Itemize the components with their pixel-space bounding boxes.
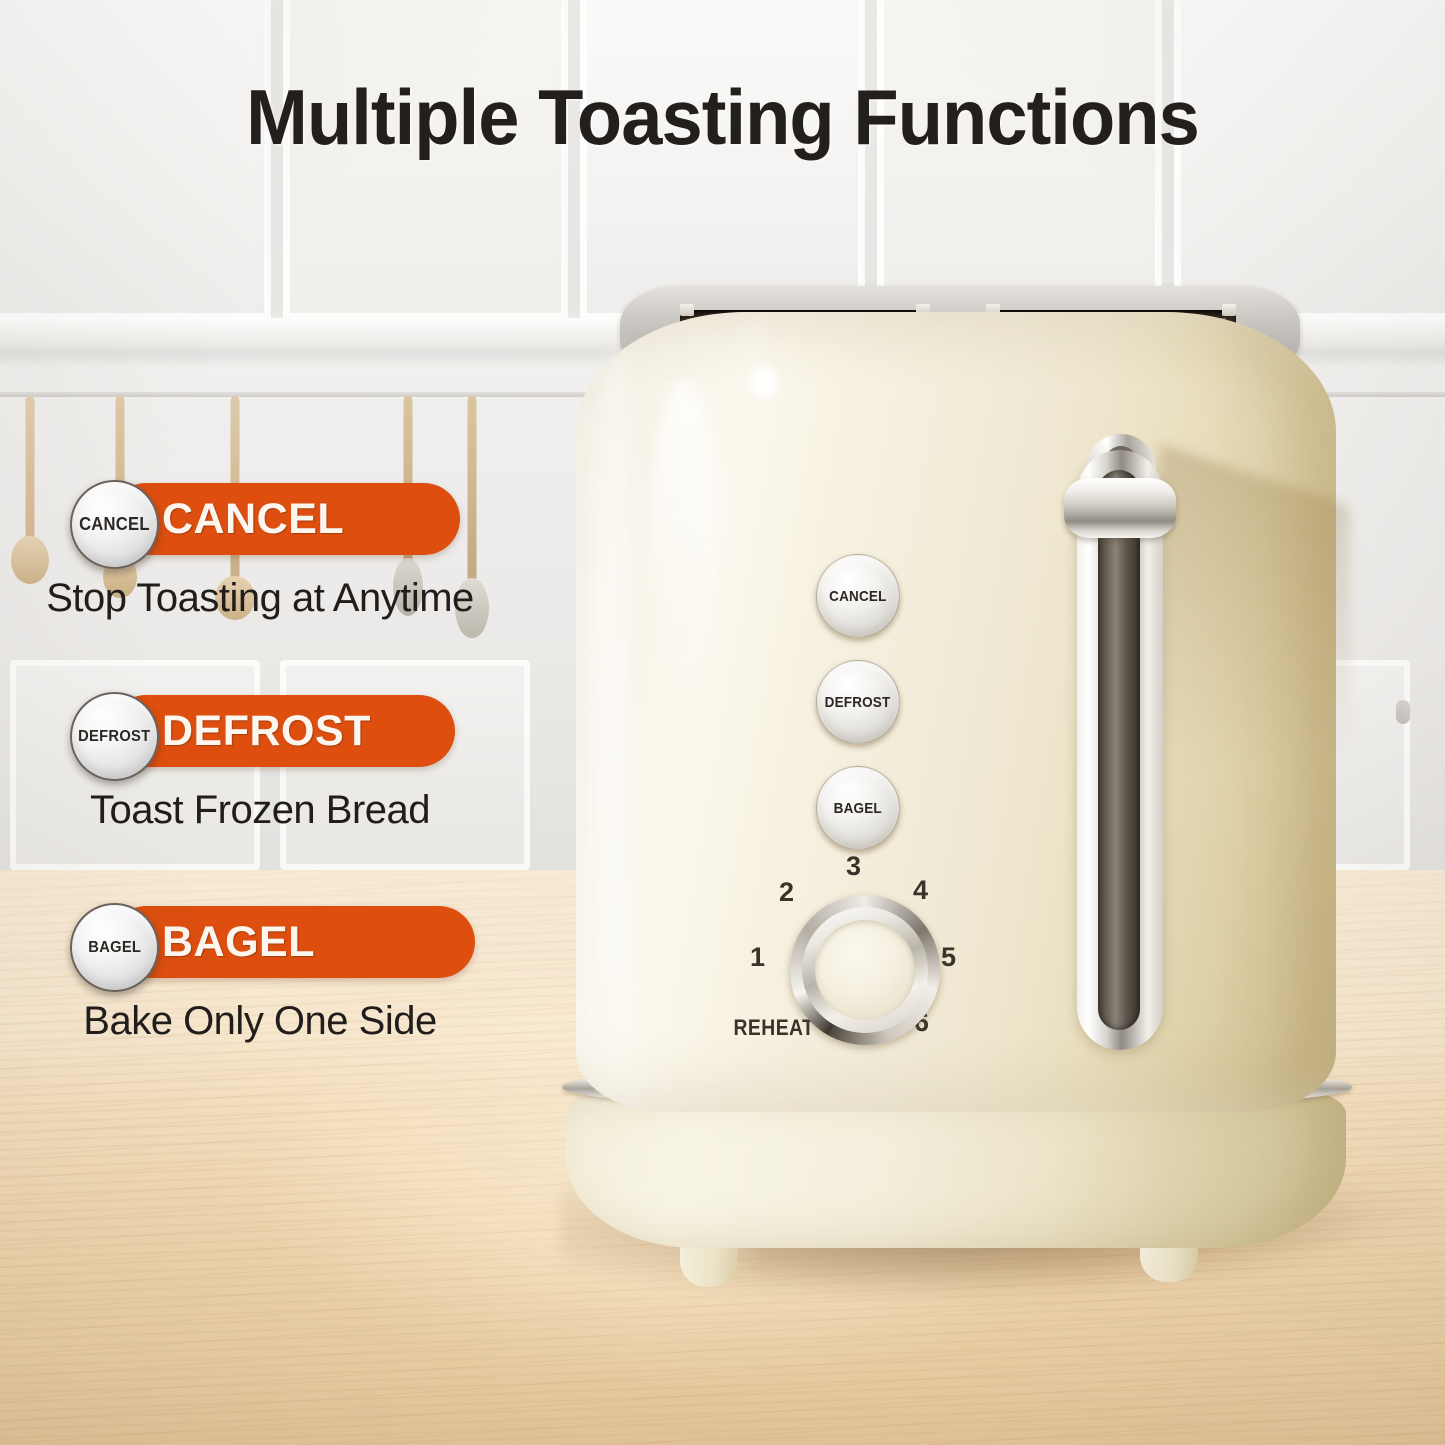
toaster-defrost-button-label: DEFROST — [825, 694, 891, 711]
feature-bagel: BAGEL BAGEL Bake Only One Side — [0, 903, 520, 1044]
browning-dial-face — [815, 920, 915, 1020]
feature-caption-bagel: Bake Only One Side — [0, 999, 520, 1044]
dial-number-5: 5 — [941, 942, 956, 973]
feature-pill-defrost: DEFROST — [110, 695, 455, 767]
dial-number-1: 1 — [750, 942, 765, 973]
feature-caption-cancel: Stop Toasting at Anytime — [0, 576, 520, 621]
feature-caption-defrost: Toast Frozen Bread — [0, 788, 520, 833]
bagel-button-icon[interactable]: BAGEL — [70, 903, 159, 992]
feature-pill-row: DEFROST DEFROST — [0, 692, 520, 770]
carriage-lever-groove — [1098, 470, 1140, 1030]
feature-cancel: CANCEL CANCEL Stop Toasting at Anytime — [0, 480, 520, 621]
toaster-product-image: CANCEL DEFROST BAGEL 1 2 3 4 5 6 REHEAT — [500, 270, 1380, 1270]
toaster-base — [566, 1088, 1346, 1248]
product-feature-graphic: Multiple Toasting Functions CANCEL CANCE… — [0, 0, 1445, 1445]
body-specular-dot — [750, 365, 778, 399]
toaster-bagel-button[interactable]: BAGEL — [816, 766, 900, 850]
feature-pill-row: BAGEL BAGEL — [0, 903, 520, 981]
toaster-cancel-button[interactable]: CANCEL — [816, 554, 900, 638]
defrost-button-icon[interactable]: DEFROST — [70, 692, 159, 781]
feature-defrost: DEFROST DEFROST Toast Frozen Bread — [0, 692, 520, 833]
feature-pill-cancel: CANCEL — [110, 483, 460, 555]
body-gloss-highlight — [650, 380, 720, 710]
dial-reheat-label: REHEAT — [734, 1015, 815, 1041]
body-sidelight — [596, 340, 642, 1040]
cabinet-knob-icon — [1396, 700, 1410, 724]
bagel-button-icon-label: BAGEL — [88, 939, 141, 957]
defrost-button-icon-label: DEFROST — [78, 728, 150, 746]
feature-pill-row: CANCEL CANCEL — [0, 480, 520, 558]
cancel-button-icon[interactable]: CANCEL — [70, 480, 159, 569]
toaster-bagel-button-label: BAGEL — [834, 800, 882, 817]
toaster-cancel-button-label: CANCEL — [829, 588, 886, 605]
dial-number-2: 2 — [779, 877, 794, 908]
cancel-button-icon-label: CANCEL — [79, 514, 150, 535]
toaster-defrost-button[interactable]: DEFROST — [816, 660, 900, 744]
feature-pill-bagel: BAGEL — [110, 906, 475, 978]
lever-cast-shadow — [1160, 444, 1350, 966]
dial-number-3: 3 — [846, 851, 861, 882]
slot-lip — [1222, 304, 1236, 316]
dial-number-4: 4 — [913, 875, 928, 906]
headline-title: Multiple Toasting Functions — [36, 72, 1409, 163]
slot-lip — [680, 304, 694, 316]
carriage-lever-handle[interactable] — [1064, 478, 1176, 538]
